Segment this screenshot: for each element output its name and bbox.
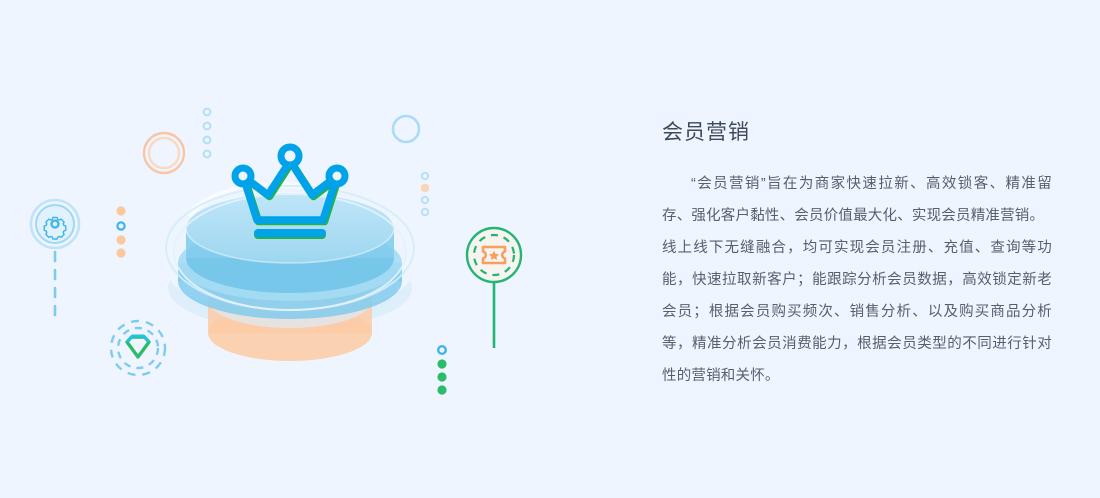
description-body: “会员营销”旨在为商家快速拉新、高效锁客、精准留存、强化客户黏性、会员价值最大化… <box>662 168 1052 392</box>
description-paragraph-2: 线上线下无缝融合，均可实现会员注册、充值、查询等功能，快速拉取新客户；能跟踪分析… <box>662 232 1052 392</box>
dots-orange-left <box>116 206 125 257</box>
diamond-icon <box>127 336 149 357</box>
ring-blue-small <box>393 116 419 142</box>
page-title: 会员营销 <box>662 118 1052 148</box>
ring-orange-double <box>144 133 184 173</box>
page-root: 会员营销 “会员营销”旨在为商家快速拉新、高效锁客、精准留存、强化客户黏性、会员… <box>0 0 1100 498</box>
dots-green-bottom <box>437 346 446 394</box>
dots-blue-top <box>204 109 211 158</box>
dots-peach-right <box>421 173 430 215</box>
gem-badge <box>111 321 165 375</box>
copy-panel: 会员营销 “会员营销”旨在为商家快速拉新、高效锁客、精准留存、强化客户黏性、会员… <box>662 118 1052 392</box>
platform-stack <box>166 185 414 361</box>
ticket-badge <box>467 228 521 282</box>
member-marketing-illustration <box>0 0 600 498</box>
description-paragraph-1: “会员营销”旨在为商家快速拉新、高效锁客、精准留存、强化客户黏性、会员价值最大化… <box>662 168 1052 232</box>
gear-badge <box>31 200 79 248</box>
